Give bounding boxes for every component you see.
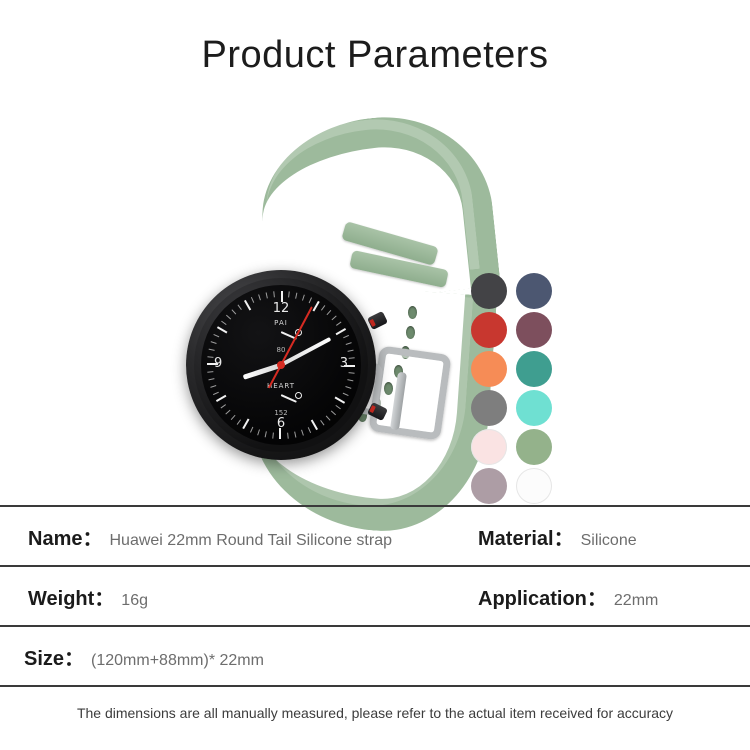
- watch-tick-minor: [213, 392, 219, 395]
- swatch-dot: [516, 312, 552, 348]
- watch-tick-minor: [265, 431, 267, 437]
- watch-face: 12 3 6 9 PAI 80 HEART 152: [201, 285, 361, 445]
- watch-numeral-3: 3: [340, 356, 348, 371]
- watch-subdial-pai: PAI 80: [254, 319, 308, 354]
- watch-tick-minor: [348, 350, 354, 352]
- color-swatch-plum[interactable]: [513, 311, 555, 349]
- swatch-dot: [516, 390, 552, 426]
- watch-hand-cap: [277, 361, 285, 369]
- swatch-dot: [471, 468, 507, 504]
- watch-tick-minor: [287, 433, 289, 439]
- subdial-needle-tip: [295, 392, 302, 399]
- watch-tick-minor: [295, 293, 297, 299]
- watch-numeral-6: 6: [201, 416, 361, 431]
- spec-row-name: Name： Huawei 22mm Round Tail Silicone st…: [0, 507, 750, 565]
- watch-tick-major: [335, 397, 346, 404]
- color-swatch-slate-blue[interactable]: [513, 272, 555, 310]
- watch-tick-minor: [302, 295, 305, 301]
- color-swatch-charcoal[interactable]: [468, 272, 510, 310]
- watch-tick-minor: [266, 292, 268, 298]
- watch-tick-minor: [208, 378, 214, 380]
- watch-tick-minor: [349, 357, 355, 359]
- color-swatch-white[interactable]: [513, 467, 555, 505]
- spec-value: 22mm: [614, 592, 658, 610]
- watch-tick-minor: [345, 386, 351, 389]
- swatch-dot: [516, 429, 552, 465]
- spec-cell-material: Material： Silicone: [478, 522, 637, 551]
- page-title: Product Parameters: [202, 34, 549, 77]
- spec-value: Huawei 22mm Round Tail Silicone strap: [109, 532, 392, 550]
- color-swatch-mauve[interactable]: [468, 467, 510, 505]
- color-swatch-orange[interactable]: [468, 350, 510, 388]
- spec-value: Silicone: [581, 532, 637, 550]
- color-swatch-gray[interactable]: [468, 389, 510, 427]
- specification-table: Name： Huawei 22mm Round Tail Silicone st…: [0, 505, 750, 687]
- color-swatch-teal[interactable]: [513, 350, 555, 388]
- watch-tick-major: [336, 328, 347, 335]
- swatch-dot: [471, 273, 507, 309]
- watch-tick-minor: [343, 393, 349, 396]
- color-swatch-pale-pink[interactable]: [468, 428, 510, 466]
- watch-tick-minor: [207, 356, 213, 358]
- spec-value: (120mm+88mm)* 22mm: [91, 652, 264, 670]
- table-divider: [0, 685, 750, 687]
- swatch-dot: [516, 351, 552, 387]
- watch-tick-major: [217, 326, 228, 333]
- spec-cell-name: Name： Huawei 22mm Round Tail Silicone st…: [28, 522, 392, 551]
- spec-label: Size：: [24, 642, 84, 671]
- spec-cell-application: Application： 22mm: [478, 582, 658, 611]
- watch-tick-minor: [349, 372, 355, 374]
- watch-tick-minor: [347, 379, 353, 381]
- strap-hole: [406, 326, 415, 339]
- spec-cell-size: Size： (120mm+88mm)* 22mm: [24, 642, 264, 671]
- color-swatch-mint[interactable]: [513, 389, 555, 427]
- watch-numeral-12: 12: [201, 301, 361, 316]
- spec-label: Material：: [478, 522, 574, 551]
- crown-accent: [369, 319, 376, 327]
- spec-label: Weight：: [28, 582, 114, 611]
- buckle-inner-edge: [376, 353, 443, 432]
- spec-label: Application：: [478, 582, 607, 611]
- watch-tick-minor: [221, 404, 226, 408]
- watch-tick-minor: [336, 322, 341, 326]
- watch-tick-minor: [213, 334, 219, 337]
- footer-note: The dimensions are all manually measured…: [0, 705, 750, 721]
- color-swatch-grid[interactable]: [468, 272, 555, 505]
- watch-tick-major: [216, 395, 227, 402]
- watch-tick-minor: [346, 342, 352, 345]
- smartwatch: 12 3 6 9 PAI 80 HEART 152: [186, 270, 376, 460]
- title-area: Product Parameters: [0, 0, 750, 110]
- strap-buckle: [368, 345, 451, 440]
- watch-tick-minor: [332, 315, 337, 320]
- watch-tick-minor: [209, 349, 215, 351]
- watch-tick-minor: [207, 371, 213, 373]
- watch-tick-minor: [331, 411, 336, 416]
- watch-tick-minor: [294, 432, 296, 438]
- product-image-area: 12 3 6 9 PAI 80 HEART 152: [0, 110, 750, 495]
- spec-cell-weight: Weight： 16g: [28, 582, 148, 611]
- watch-tick-minor: [221, 321, 226, 325]
- watch-numeral-9: 9: [214, 356, 222, 371]
- watch-tick-minor: [258, 294, 261, 300]
- watch-tick-minor: [335, 405, 340, 409]
- swatch-dot: [471, 351, 507, 387]
- watch-tick-minor: [210, 385, 216, 388]
- spec-row-size: Size： (120mm+88mm)* 22mm: [0, 627, 750, 685]
- watch-subdial-heart: HEART 152: [254, 382, 308, 417]
- swatch-dot: [471, 312, 507, 348]
- swatch-dot: [516, 273, 552, 309]
- swatch-dot: [516, 468, 552, 504]
- watch-tick-minor: [225, 410, 230, 415]
- subdial-value: 152: [254, 409, 308, 417]
- spec-label: Name：: [28, 522, 102, 551]
- swatch-dot: [471, 390, 507, 426]
- watch-tick-minor: [272, 433, 274, 439]
- spec-value: 16g: [121, 592, 148, 610]
- color-swatch-red[interactable]: [468, 311, 510, 349]
- watch-tick-minor: [343, 335, 349, 338]
- color-swatch-sage-green[interactable]: [513, 428, 555, 466]
- swatch-dot: [471, 429, 507, 465]
- watch-tick-minor: [211, 341, 217, 344]
- spec-row-weight: Weight： 16g Application： 22mm: [0, 567, 750, 625]
- subdial-label: HEART: [254, 382, 308, 390]
- strap-hole: [408, 306, 417, 319]
- watch-tick-minor: [273, 291, 275, 297]
- watch-tick-minor: [288, 291, 290, 297]
- crown-accent: [369, 405, 376, 413]
